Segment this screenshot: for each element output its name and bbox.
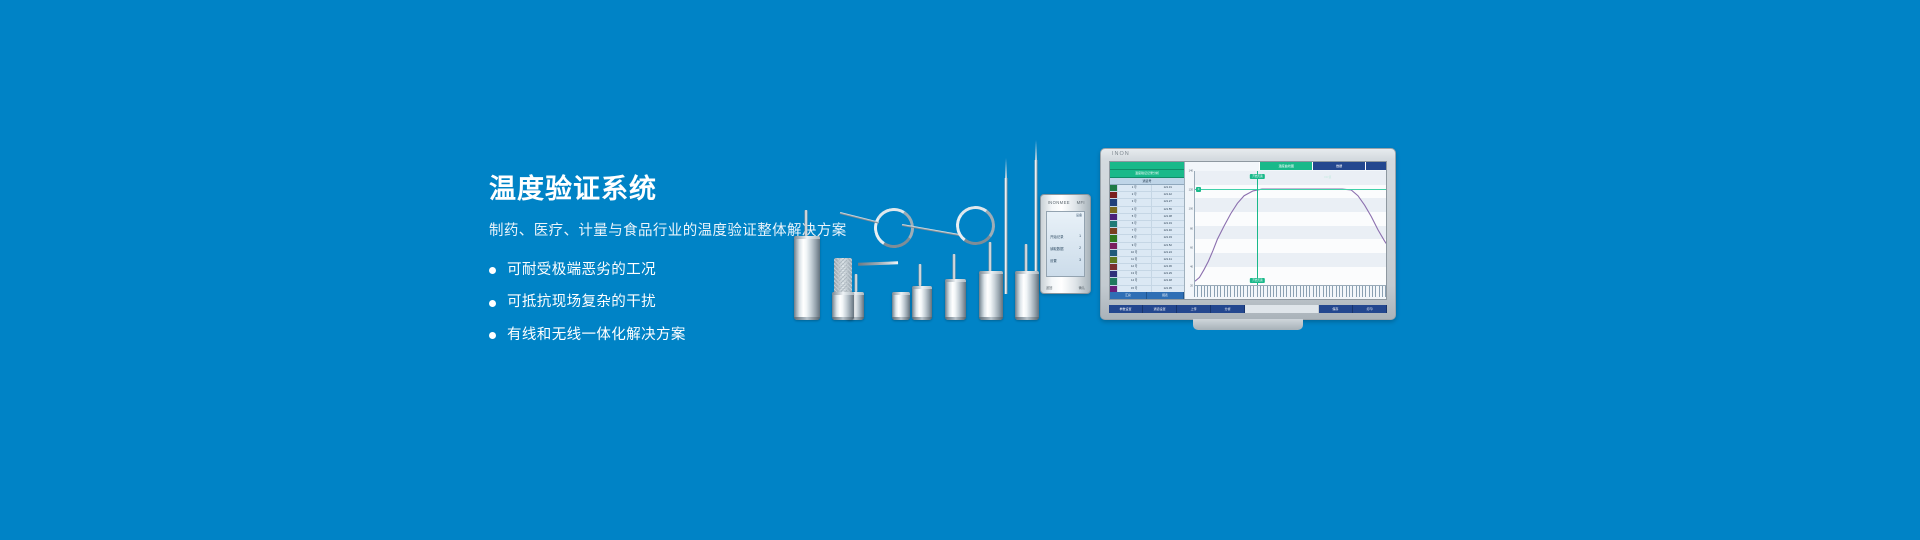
menu-value: 3 — [1079, 258, 1081, 263]
value-cell: 121.55 — [1151, 207, 1185, 213]
x-tick — [1362, 286, 1363, 297]
table-row[interactable]: 10 号121.24 — [1110, 250, 1184, 257]
needle-probe-icon — [1003, 158, 1009, 320]
handheld-brand-label: INONMEE MFI — [1041, 200, 1090, 205]
x-tick — [1359, 286, 1360, 297]
logger-body — [945, 279, 966, 320]
annotation-start-bottom[interactable]: 开始灭菌 — [1250, 278, 1264, 283]
monitor-stand — [1193, 319, 1303, 330]
channel-cell: 6 号 — [1117, 221, 1151, 227]
x-tick — [1247, 286, 1248, 297]
x-tick — [1375, 286, 1376, 297]
x-tick — [1267, 286, 1268, 297]
table-row[interactable]: 2 号121.42 — [1110, 192, 1184, 199]
cursor-line[interactable] — [1257, 171, 1258, 285]
list-item: 有线和无线一体化解决方案 — [489, 327, 959, 344]
table-row[interactable]: 4 号121.55 — [1110, 207, 1184, 214]
table-body[interactable]: 1 号121.312 号121.423 号121.274 号121.555 号1… — [1110, 185, 1184, 292]
x-tick — [1346, 286, 1347, 297]
x-tick — [1194, 286, 1195, 297]
x-tick — [1339, 286, 1340, 297]
channel-cell: 11 号 — [1117, 257, 1151, 263]
x-tick — [1316, 286, 1317, 297]
mesh-shield-sensor — [834, 258, 852, 294]
x-tick — [1283, 286, 1284, 297]
channel-color-swatch — [1110, 192, 1117, 198]
x-tick — [1250, 286, 1251, 297]
table-row[interactable]: 6 号121.19 — [1110, 221, 1184, 228]
table-row[interactable]: 9 号121.52 — [1110, 243, 1184, 250]
table-header: 通道号 — [1110, 178, 1184, 185]
feature-label: 可耐受极端恶劣的工况 — [507, 262, 656, 279]
value-cell: 121.27 — [1151, 199, 1185, 205]
value-cell: 121.41 — [1151, 257, 1185, 263]
monitor-logo: INON — [1112, 151, 1130, 157]
x-tick — [1372, 286, 1373, 297]
x-tick — [1270, 286, 1271, 297]
x-tick — [1240, 286, 1241, 297]
x-tick — [1313, 286, 1314, 297]
probe-stem-icon — [855, 274, 858, 292]
table-row[interactable]: 3 号121.27 — [1110, 199, 1184, 206]
y-tick-label: 80 — [1190, 227, 1193, 230]
bullet-dot-icon — [489, 300, 496, 307]
software-button-bar: 参数设置 通道设置 上传 分析 保存 打印 — [1109, 305, 1387, 313]
menu-label: 读取数据 — [1050, 246, 1064, 251]
x-tick — [1280, 286, 1281, 297]
channel-color-swatch — [1110, 264, 1117, 270]
probe-stem-icon — [919, 264, 922, 286]
x-tick — [1290, 286, 1291, 297]
channel-cell: 8 号 — [1117, 235, 1151, 241]
x-tick — [1349, 286, 1350, 297]
x-tick — [1365, 286, 1366, 297]
probe-stem-icon — [989, 242, 992, 272]
x-tick — [1243, 286, 1244, 297]
tab-data[interactable]: 数据 — [1312, 162, 1365, 170]
hero-banner: 温度验证系统 制药、医疗、计量与食品行业的温度验证整体解决方案 可耐受极端恶劣的… — [0, 0, 1920, 540]
x-tick — [1342, 286, 1343, 297]
bullet-dot-icon — [489, 267, 496, 274]
logger-body — [1015, 271, 1039, 320]
table-row[interactable]: 1 号121.31 — [1110, 185, 1184, 192]
setpoint-line — [1195, 189, 1387, 190]
handheld-brand-text: INONMEE — [1048, 200, 1070, 205]
page-title: 温度验证系统 — [489, 175, 959, 205]
table-row[interactable]: 11 号121.41 — [1110, 257, 1184, 264]
value-cell: 121.29 — [1151, 271, 1185, 277]
value-cell: 121.24 — [1151, 250, 1185, 256]
channel-cell: 14 号 — [1117, 278, 1151, 284]
channel-settings-button[interactable]: 通道设置 — [1143, 305, 1177, 313]
x-tick — [1220, 286, 1221, 297]
x-tick — [1306, 286, 1307, 297]
handheld-model-text: MFI — [1077, 200, 1085, 205]
x-tick — [1214, 286, 1215, 297]
x-tick — [1204, 286, 1205, 297]
tab-report[interactable]: 报告 — [1365, 162, 1387, 170]
x-tick — [1257, 286, 1258, 297]
value-cell: 121.48 — [1151, 278, 1185, 284]
value-cell: 121.36 — [1151, 264, 1185, 270]
x-tick — [1276, 286, 1277, 297]
x-tick — [1329, 286, 1330, 297]
channel-color-swatch — [1110, 278, 1117, 284]
product-photo-group: INONMEE MFI 设备 开始记录 1 读取数据 2 设置 3 — [900, 120, 1520, 320]
probe-stem-icon — [1025, 244, 1028, 272]
print-button[interactable]: 打印 — [1353, 305, 1387, 313]
monitor-display: INON 温度验证记录分析 通道号 1 号121.312 号121.423 号1… — [1100, 148, 1396, 320]
value-cell: 121.42 — [1151, 192, 1185, 198]
x-tick — [1319, 286, 1320, 297]
channel-color-swatch — [1110, 199, 1117, 205]
probe-stem-icon — [805, 210, 808, 238]
list-item: 可耐受极端恶劣的工况 — [489, 262, 959, 279]
channel-color-swatch — [1110, 286, 1117, 292]
setpoint-marker-left[interactable]: 0 — [1196, 187, 1201, 192]
y-tick-label: 140 — [1189, 170, 1193, 173]
banner-copy: 温度验证系统 制药、医疗、计量与食品行业的温度验证整体解决方案 可耐受极端恶劣的… — [489, 175, 959, 359]
logger-body — [832, 292, 854, 320]
handheld-back-button[interactable]: 返回 — [1046, 285, 1052, 290]
x-tick — [1253, 286, 1254, 297]
button-bar-spacer — [1245, 305, 1319, 313]
list-item: 可抵抗现场复杂的干扰 — [489, 294, 959, 311]
table-summary-button[interactable]: 汇总 — [1110, 292, 1147, 299]
x-tick — [1227, 286, 1228, 297]
x-tick — [1309, 286, 1310, 297]
y-tick-label: 40 — [1190, 265, 1193, 268]
channel-color-swatch — [1110, 243, 1117, 249]
chart-tabs: 温度曲线图 数据 报告 — [1185, 162, 1387, 170]
x-tick — [1234, 286, 1235, 297]
x-tick — [1201, 286, 1202, 297]
value-cell: 121.31 — [1151, 185, 1185, 191]
logger-body-large — [794, 236, 820, 320]
x-tick — [1385, 286, 1386, 297]
handheld-screen: 设备 开始记录 1 读取数据 2 设置 3 — [1046, 211, 1085, 277]
table-row[interactable]: 5 号121.38 — [1110, 214, 1184, 221]
x-tick — [1237, 286, 1238, 297]
x-tick — [1263, 286, 1264, 297]
y-tick-label: 120 — [1189, 189, 1193, 192]
channel-cell: 10 号 — [1117, 250, 1151, 256]
list-item[interactable]: 读取数据 2 — [1050, 246, 1081, 251]
x-tick — [1369, 286, 1370, 297]
channel-color-swatch — [1110, 235, 1117, 241]
channel-color-swatch — [1110, 207, 1117, 213]
channel-color-swatch — [1110, 271, 1117, 277]
channel-color-swatch — [1110, 250, 1117, 256]
x-tick — [1300, 286, 1301, 297]
menu-label: 设置 — [1050, 258, 1057, 263]
x-tick — [1286, 286, 1287, 297]
channel-table: 温度验证记录分析 通道号 1 号121.312 号121.423 号121.27… — [1110, 162, 1185, 299]
channel-cell: 15 号 — [1117, 286, 1151, 292]
x-tick — [1336, 286, 1337, 297]
save-button[interactable]: 保存 — [1319, 305, 1353, 313]
tab-curve[interactable]: 温度曲线图 — [1259, 162, 1312, 170]
feature-label: 有线和无线一体化解决方案 — [507, 327, 686, 344]
chart-panel: 温度曲线图 数据 报告 20406080100120140 — [1185, 162, 1387, 299]
table-row[interactable]: 12 号121.36 — [1110, 264, 1184, 271]
handheld-ok-button[interactable]: 确认 — [1079, 285, 1085, 290]
chart-plot[interactable]: 0 0 开始灭菌 开始灭菌 F0 值 灭菌结束 — [1194, 171, 1387, 286]
channel-cell: 12 号 — [1117, 264, 1151, 270]
channel-color-swatch — [1110, 185, 1117, 191]
table-footer: 汇总 报表 — [1110, 292, 1184, 299]
x-tick — [1323, 286, 1324, 297]
feature-list: 可耐受极端恶劣的工况 可抵抗现场复杂的干扰 有线和无线一体化解决方案 — [489, 262, 959, 344]
handheld-screen-title: 设备 — [1076, 213, 1082, 217]
handheld-menu-list: 开始记录 1 读取数据 2 设置 3 — [1050, 234, 1081, 270]
y-tick-label: 20 — [1190, 285, 1193, 288]
y-axis: 20406080100120140 — [1185, 171, 1194, 286]
x-tick — [1296, 286, 1297, 297]
bullet-dot-icon — [489, 332, 496, 339]
value-cell: 121.46 — [1151, 228, 1185, 234]
x-tick — [1356, 286, 1357, 297]
x-tick — [1293, 286, 1294, 297]
x-tick — [1273, 286, 1274, 297]
value-cell: 121.33 — [1151, 235, 1185, 241]
upload-button[interactable]: 上传 — [1177, 305, 1211, 313]
x-tick — [1217, 286, 1218, 297]
table-row[interactable]: 7 号121.46 — [1110, 228, 1184, 235]
logger-body — [912, 286, 932, 320]
value-cell: 121.35 — [1151, 286, 1185, 292]
list-item[interactable]: 开始记录 1 — [1050, 234, 1081, 239]
channel-cell: 13 号 — [1117, 271, 1151, 277]
analyze-button[interactable]: 分析 — [1211, 305, 1245, 313]
x-tick — [1326, 286, 1327, 297]
list-item[interactable]: 设置 3 — [1050, 258, 1081, 263]
x-tick — [1332, 286, 1333, 297]
x-tick — [1197, 286, 1198, 297]
x-tick — [1382, 286, 1383, 297]
table-report-button[interactable]: 报表 — [1147, 292, 1184, 299]
annotation-start[interactable]: 开始灭菌 — [1250, 174, 1264, 179]
x-tick — [1224, 286, 1225, 297]
channel-cell: 4 号 — [1117, 207, 1151, 213]
x-tick — [1379, 286, 1380, 297]
channel-color-swatch — [1110, 221, 1117, 227]
channel-cell: 2 号 — [1117, 192, 1151, 198]
x-tick — [1207, 286, 1208, 297]
table-row[interactable]: 13 号121.29 — [1110, 271, 1184, 278]
x-tick — [1303, 286, 1304, 297]
logger-body — [979, 271, 1003, 320]
menu-label: 开始记录 — [1050, 234, 1064, 239]
handheld-button-row: 返回 确认 — [1046, 285, 1085, 290]
channel-cell: 7 号 — [1117, 228, 1151, 234]
feature-label: 可抵抗现场复杂的干扰 — [507, 294, 656, 311]
menu-value: 1 — [1079, 234, 1081, 239]
menu-value: 2 — [1079, 246, 1081, 251]
channel-color-swatch — [1110, 228, 1117, 234]
coil-probe-icon — [953, 203, 997, 247]
channel-cell: 1 号 — [1117, 185, 1151, 191]
y-tick-label: 60 — [1190, 246, 1193, 249]
y-tick-label: 100 — [1189, 208, 1193, 211]
x-tick — [1352, 286, 1353, 297]
x-tick — [1230, 286, 1231, 297]
value-cell: 121.19 — [1151, 221, 1185, 227]
channel-cell: 9 号 — [1117, 243, 1151, 249]
software-screen: 温度验证记录分析 通道号 1 号121.312 号121.423 号121.27… — [1109, 161, 1387, 300]
plot-area: 20406080100120140 0 0 — [1185, 170, 1387, 286]
param-settings-button[interactable]: 参数设置 — [1109, 305, 1143, 313]
table-title: 温度验证记录分析 — [1110, 170, 1184, 178]
x-tick — [1260, 286, 1261, 297]
table-row[interactable]: 8 号121.33 — [1110, 235, 1184, 242]
channel-color-swatch — [1110, 257, 1117, 263]
handheld-reader[interactable]: INONMEE MFI 设备 开始记录 1 读取数据 2 设置 3 — [1040, 194, 1091, 294]
table-titlebar — [1110, 162, 1184, 170]
channel-color-swatch — [1110, 214, 1117, 220]
channel-cell: 5 号 — [1117, 214, 1151, 220]
x-tick — [1210, 286, 1211, 297]
x-axis-strip — [1185, 286, 1387, 299]
logger-body — [892, 292, 910, 320]
channel-cell: 3 号 — [1117, 199, 1151, 205]
probe-stem-icon — [953, 254, 956, 280]
value-cell: 121.52 — [1151, 243, 1185, 249]
value-cell: 121.38 — [1151, 214, 1185, 220]
table-row[interactable]: 14 号121.48 — [1110, 278, 1184, 285]
annotation-f0: F0 值 — [1324, 175, 1331, 179]
